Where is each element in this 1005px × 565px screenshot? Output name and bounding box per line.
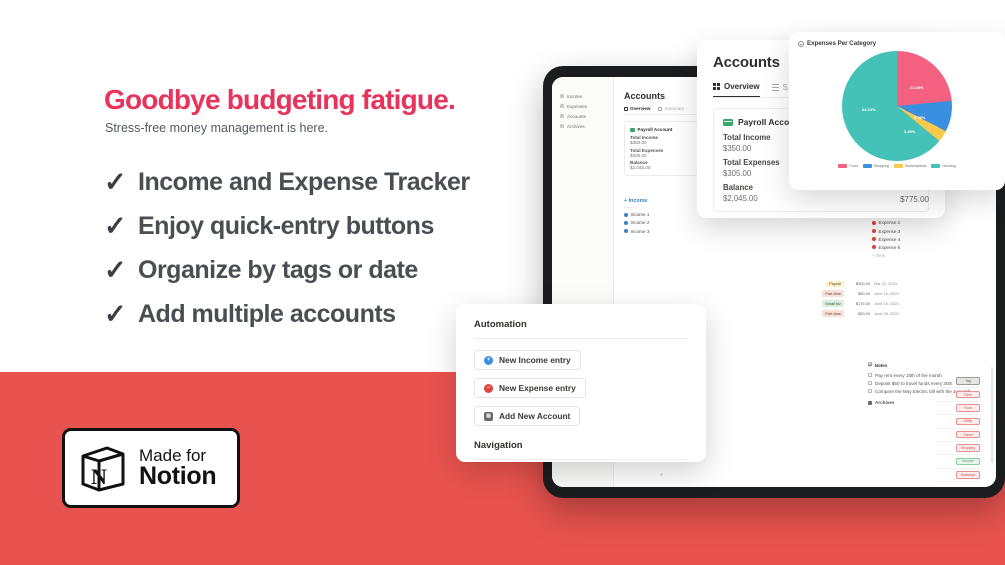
account-card[interactable]: Payroll Account Total Income $350.00 Tot… xyxy=(624,121,702,176)
sidebar-item-label: Income xyxy=(567,94,582,99)
list-item-label: Expense 2 xyxy=(879,220,901,225)
feature-item: ✓ Income and Expense Tracker xyxy=(104,160,470,204)
tag-badge: Subscript xyxy=(956,471,980,479)
grid-icon xyxy=(624,107,628,111)
sidebar-item-income[interactable]: Income xyxy=(558,91,607,101)
tag-row[interactable]: Subscript xyxy=(936,469,980,482)
legend-swatch xyxy=(863,164,872,168)
list-item[interactable]: Income 2 xyxy=(624,219,738,227)
amount-cell: $175.00 xyxy=(848,301,870,306)
table-row[interactable]: Payroll $300.00 Mar 31, 2023 xyxy=(800,279,908,289)
credit-card-icon xyxy=(723,119,733,126)
income-icon xyxy=(624,213,628,217)
minus-circle-icon xyxy=(798,41,804,47)
list-item-label: Expense 4 xyxy=(879,237,901,242)
expense-icon xyxy=(872,245,876,249)
expense-icon xyxy=(872,229,876,233)
list-item[interactable]: Income 3 xyxy=(624,227,738,235)
legend-label: Food xyxy=(849,164,857,168)
new-expense-label: + New xyxy=(872,253,885,258)
archives-label: Archives xyxy=(875,400,894,405)
legend-swatch xyxy=(838,164,847,168)
grid-icon xyxy=(713,83,720,90)
legend-label: Shopping xyxy=(874,164,889,168)
tag-badge: Part-time xyxy=(822,310,844,317)
pie-chart: 23.48% 9.09% 3.39% 64.04% xyxy=(838,51,956,161)
automation-card: Automation + New Income entry − New Expe… xyxy=(456,304,706,462)
income-icon xyxy=(624,221,628,225)
sidebar-item-archives[interactable]: Archives xyxy=(558,121,607,131)
tag-badge: Small biz xyxy=(822,300,844,307)
feature-label: Enjoy quick-entry buttons xyxy=(138,212,434,241)
tag-row[interactable]: Tag xyxy=(936,375,980,388)
pie-card-title: Expenses Per Category xyxy=(807,40,876,47)
metric-value: $2,045.00 xyxy=(630,165,696,170)
date-cell: June 28, 2023 xyxy=(874,311,908,316)
legend-item-shopping: Shopping xyxy=(863,164,889,168)
tag-row[interactable]: Rent xyxy=(936,388,980,401)
tab-overview[interactable]: Overview xyxy=(713,82,760,97)
new-expense-entry-button[interactable]: − New Expense entry xyxy=(474,378,586,398)
list-icon xyxy=(658,107,662,111)
feature-label: Income and Expense Tracker xyxy=(138,168,470,197)
add-row-button[interactable]: + xyxy=(660,473,664,479)
navigation-heading: Navigation xyxy=(474,440,688,451)
legend-item-food: Food xyxy=(838,164,857,168)
table-row[interactable]: Part-time $20.00 June 28, 2023 xyxy=(800,308,908,318)
pie-label-food: 23.48% xyxy=(910,85,924,90)
feature-item: ✓ Add multiple accounts xyxy=(104,292,470,336)
automation-buttons: + New Income entry − New Expense entry ▤… xyxy=(474,348,688,432)
feature-item: ✓ Enjoy quick-entry buttons xyxy=(104,204,470,248)
minus-circle-icon: − xyxy=(484,384,493,393)
pie-label-shopping: 9.09% xyxy=(914,115,925,120)
feature-label: Add multiple accounts xyxy=(138,300,396,329)
list-item-label: Income 1 xyxy=(631,212,650,217)
notion-cube-icon: N xyxy=(79,444,127,492)
date-cell: Mar 31, 2023 xyxy=(874,281,908,286)
card-icon: ▤ xyxy=(484,412,493,421)
date-cell: June 15, 2023 xyxy=(874,291,908,296)
tag-badge: Payroll xyxy=(826,281,844,288)
button-label: Add New Account xyxy=(499,411,570,421)
pie-legend: Food Shopping Subscriptions Housing xyxy=(798,164,996,168)
table-row[interactable]: Small biz $175.00 June 15, 2023 xyxy=(800,299,908,309)
page-icon xyxy=(560,124,564,128)
tab-summary[interactable]: Summary xyxy=(658,106,684,111)
account-card-header: Payroll Account xyxy=(630,127,696,132)
legend-label: Subscriptions xyxy=(905,164,927,168)
tag-row[interactable]: Income xyxy=(936,455,980,468)
automation-heading: Automation xyxy=(474,319,688,330)
page-icon xyxy=(560,104,564,108)
pie-card-header: Expenses Per Category xyxy=(798,40,996,47)
button-label: New Income entry xyxy=(499,355,571,365)
add-new-account-button[interactable]: ▤ Add New Account xyxy=(474,406,580,426)
list-item-label: Income 3 xyxy=(631,229,650,234)
checkbox-icon[interactable] xyxy=(868,389,872,393)
tag-strip: Tag Rent Food Utility Travel Shopping In… xyxy=(936,375,980,482)
expense-icon xyxy=(872,237,876,241)
pie-label-subscriptions: 3.39% xyxy=(904,129,915,134)
sidebar-item-label: Expenses xyxy=(567,104,587,109)
date-cell: June 15, 2023 xyxy=(874,301,908,306)
secondary-balance-value: $775.00 xyxy=(900,195,929,204)
feature-list: ✓ Income and Expense Tracker ✓ Enjoy qui… xyxy=(104,160,470,336)
tab-overview[interactable]: Overview xyxy=(624,106,650,111)
sidebar-item-expenses[interactable]: Expenses xyxy=(558,101,607,111)
amount-cell: $50.00 xyxy=(848,291,870,296)
legend-swatch xyxy=(931,164,940,168)
tag-badge: Food xyxy=(956,404,980,412)
tab-label: Overview xyxy=(724,82,760,91)
amount-cell: $300.00 xyxy=(848,281,870,286)
divider xyxy=(624,207,634,208)
list-item-label: Expense 5 xyxy=(879,245,901,250)
tag-row[interactable]: Utility xyxy=(936,415,980,428)
feature-item: ✓ Organize by tags or date xyxy=(104,248,470,292)
notes-icon: ☑ xyxy=(868,362,872,368)
legend-swatch xyxy=(894,164,903,168)
checkmark-icon: ✓ xyxy=(104,169,138,196)
note-label: Pay rent every 15th of the month xyxy=(875,373,942,378)
account-name: Payroll Account xyxy=(638,127,673,132)
plus-circle-icon: + xyxy=(484,356,493,365)
list-item[interactable]: Expense 5 xyxy=(872,243,986,251)
checkbox-icon[interactable] xyxy=(868,381,872,385)
new-income-entry-button[interactable]: + New Income entry xyxy=(474,350,581,370)
legend-item-subscriptions: Subscriptions xyxy=(894,164,927,168)
tag-badge: Part-time xyxy=(822,290,844,297)
made-for-notion-badge: N Made for Notion xyxy=(62,428,240,508)
pie-label-housing: 64.04% xyxy=(862,107,876,112)
page-icon xyxy=(560,114,564,118)
tag-badge: Travel xyxy=(956,431,980,439)
feature-label: Organize by tags or date xyxy=(138,256,418,285)
income-icon xyxy=(624,229,628,233)
legend-item-housing: Housing xyxy=(931,164,955,168)
expense-icon xyxy=(872,221,876,225)
tag-badge: Tag xyxy=(956,377,980,385)
pie-slices xyxy=(842,51,952,161)
archive-icon xyxy=(868,401,872,405)
tag-row[interactable]: Shopping xyxy=(936,442,980,455)
checkbox-icon[interactable] xyxy=(868,373,872,377)
notion-logo-letter: N xyxy=(91,464,107,489)
checkmark-icon: ✓ xyxy=(104,301,138,328)
tag-badge: Rent xyxy=(956,391,980,399)
metric-value: $2,045.00 xyxy=(723,194,919,203)
checkmark-icon: ✓ xyxy=(104,213,138,240)
list-icon xyxy=(772,84,779,91)
badge-brand-label: Notion xyxy=(139,464,216,489)
page-subheadline: Stress-free money management is here. xyxy=(105,121,328,135)
sidebar-item-label: Accounts xyxy=(567,114,586,119)
tag-row[interactable]: Food xyxy=(936,402,980,415)
sidebar-item-accounts[interactable]: Accounts xyxy=(558,111,607,121)
button-label: New Expense entry xyxy=(499,383,576,393)
list-item-label: Expense 3 xyxy=(879,229,901,234)
tab-summary[interactable]: S xyxy=(772,82,788,97)
divider xyxy=(474,459,688,460)
page-headline: Goodbye budgeting fatigue. xyxy=(104,84,455,116)
metric-value: $305.00 xyxy=(630,153,696,158)
list-item[interactable]: Expense 4 xyxy=(872,235,986,243)
new-expense-row[interactable]: + New xyxy=(872,252,986,260)
tag-row[interactable]: Travel xyxy=(936,429,980,442)
legend-label: Housing xyxy=(942,164,955,168)
checkmark-icon: ✓ xyxy=(104,257,138,284)
metric-value: $350.00 xyxy=(630,140,696,145)
amount-cell: $20.00 xyxy=(848,311,870,316)
notes-heading: ☑ Notes xyxy=(868,362,986,368)
page-icon xyxy=(560,94,564,98)
list-item[interactable]: Expense 2 xyxy=(872,219,986,227)
tag-badge: Income xyxy=(956,458,980,466)
sidebar-item-label: Archives xyxy=(567,124,585,129)
tag-badge: Utility xyxy=(956,418,980,426)
notion-badge-text: Made for Notion xyxy=(139,447,216,489)
account-color-icon xyxy=(630,128,635,132)
tab-label: Summary xyxy=(664,106,684,111)
tab-label: Overview xyxy=(630,106,650,111)
vertical-scrollbar[interactable] xyxy=(991,367,994,463)
tag-badge: Shopping xyxy=(956,444,980,452)
tab-label: S xyxy=(783,83,788,92)
transactions-table: Payroll $300.00 Mar 31, 2023 Part-time $… xyxy=(800,279,908,318)
divider xyxy=(474,338,688,339)
notes-heading-label: Notes xyxy=(875,363,888,368)
list-item-label: Income 2 xyxy=(631,220,650,225)
table-row[interactable]: Part-time $50.00 June 15, 2023 xyxy=(800,289,908,299)
expenses-per-category-card: Expenses Per Category 23.48% 9.09% 3.39%… xyxy=(789,32,1005,190)
list-item[interactable]: Expense 3 xyxy=(872,227,986,235)
